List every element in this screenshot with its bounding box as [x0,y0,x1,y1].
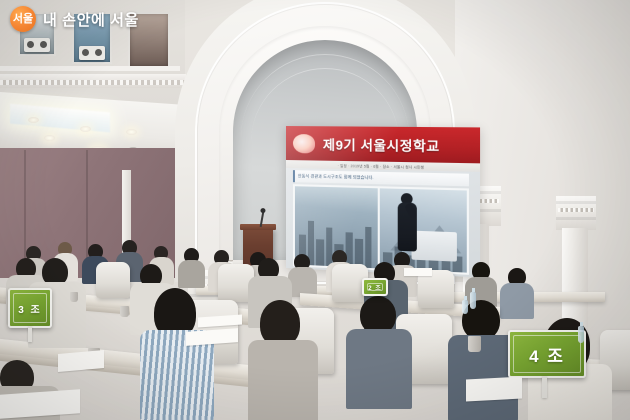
seoul-logo-mark: 서울 [13,14,33,25]
downlight-1 [28,117,39,123]
slide-heading-text: 안동식 경관과 도시구조도 함께 되었습니다. [298,173,374,181]
presenter-silhouette [397,193,418,252]
team-placard-3-label: 3 조 [18,301,42,316]
water-bottle-2 [578,326,584,343]
window-sill [0,66,180,71]
handout-6 [404,268,432,276]
team-placard-2-label: 2 조 [368,283,382,292]
team-placard-3[interactable]: 3 조 [8,288,52,328]
downlight-3 [44,135,55,141]
seoul-logo-icon: 서울 [10,6,36,32]
stage-lectern [412,231,457,262]
dentil-molding-left [0,80,186,85]
projector-unit-1 [24,38,50,52]
tumbler-3 [120,306,129,317]
slide-body [293,184,469,275]
downlight-2 [80,126,91,132]
team-placard-4-stem [542,376,547,398]
water-bottle-3 [462,300,468,314]
team-placard-4-label: 4 조 [529,342,565,367]
watermark-text: 내 손안에 서울 [43,9,139,30]
projection-screen: 제9기 서울시정학교 · 일정 · 2019년 5월 · 6월 · 장소 · 서… [286,126,480,277]
watermark: 서울 내 손안에 서울 [10,6,139,32]
banner-title: 제9기 서울시정학교 [323,134,440,155]
team-placard-2[interactable]: 2 조 [362,278,388,296]
chair-mid-1 [96,262,130,298]
tumbler-1 [468,336,481,352]
team-placard-4[interactable]: 4 조 [508,330,586,378]
team-placard-3-stem [28,326,32,342]
capital-far-right [556,196,596,230]
projector-unit-2 [79,46,105,60]
lecture-hall-photo: 제9기 서울시정학교 · 일정 · 2019년 5월 · 6월 · 장소 · 서… [0,0,630,420]
water-bottle-1 [470,292,476,309]
podium-top [240,224,276,230]
downlight-4 [126,129,137,135]
handout-5 [466,377,522,402]
banner-emblem-icon [293,134,315,153]
tumbler-4 [70,292,78,302]
event-banner: 제9기 서울시정학교 [286,126,480,163]
